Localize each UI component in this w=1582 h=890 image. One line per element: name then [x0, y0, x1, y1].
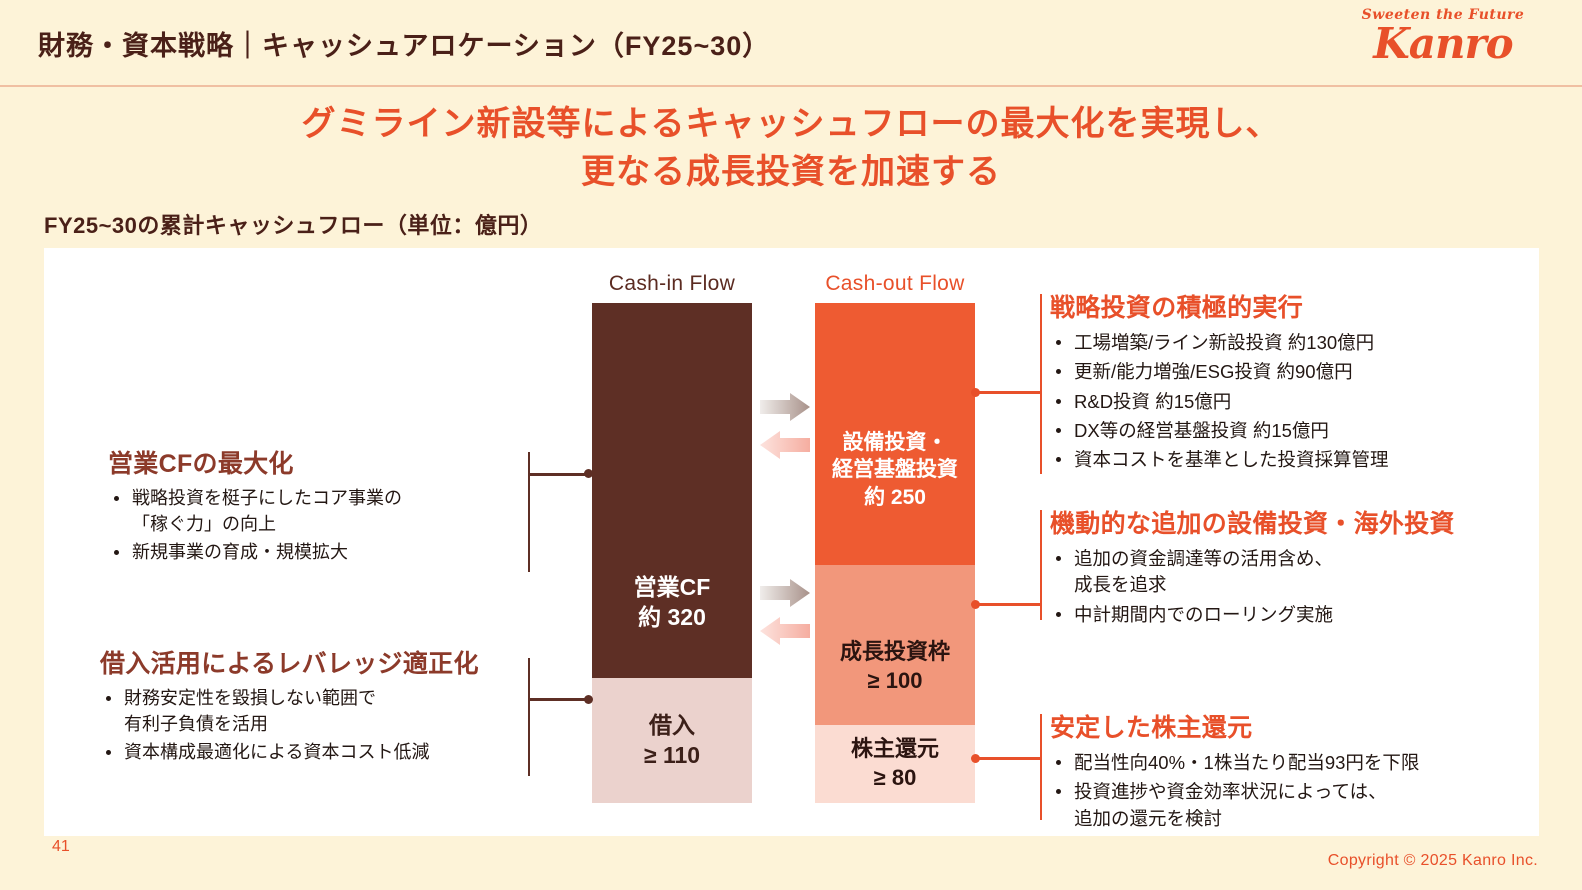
- bar-segment-growth-investment: 成長投資枠 ≥ 100: [815, 565, 975, 725]
- segment-value-borrowing: ≥ 110: [644, 741, 700, 771]
- segment-label-borrowing: 借入: [644, 711, 700, 741]
- arrow-left-icon: [760, 617, 810, 645]
- segment-value-operating-cf: 約 320: [634, 603, 711, 633]
- connector-bracket-capex: [1040, 294, 1042, 474]
- list-item: 追加の資金調達等の活用含め、成長を追求: [1050, 546, 1530, 599]
- connector-dot-growth: [971, 600, 980, 609]
- page-number: 41: [52, 838, 70, 856]
- text-block-shareholder-return: 安定した株主還元 配当性向40%・1株当たり配当93円を下限 投資進捗や資金効率…: [1050, 708, 1530, 835]
- slide-canvas: 財務・資本戦略｜キャッシュアロケーション（FY25~30） Sweeten th…: [0, 0, 1582, 890]
- headline-line-1: グミライン新設等によるキャッシュフローの最大化を実現し、: [0, 100, 1582, 148]
- text-block-operating-cf: 営業CFの最大化 戦略投資を梃子にしたコア事業の「稼ぐ力」の向上 新規事業の育成…: [108, 444, 528, 569]
- list-item: R&D投資 約15億円: [1050, 389, 1520, 415]
- list-item: 財務安定性を毀損しない範囲で有利子負債を活用: [100, 686, 540, 737]
- flow-arrows-upper: [760, 392, 812, 468]
- arrow-right-icon: [760, 393, 810, 421]
- bar-segment-shareholder-return: 株主還元 ≥ 80: [815, 725, 975, 803]
- list-item: 投資進捗や資金効率状況によっては、追加の還元を検討: [1050, 779, 1530, 832]
- connector-stem-return: [975, 757, 1041, 760]
- segment-label-growth-investment: 成長投資枠: [840, 638, 950, 667]
- connector-dot-borrowing: [584, 695, 593, 704]
- bullet-list: 工場増築/ライン新設投資 約130億円 更新/能力増強/ESG投資 約90億円 …: [1050, 330, 1520, 473]
- list-item: 工場増築/ライン新設投資 約130億円: [1050, 330, 1520, 356]
- connector-dot-capex: [971, 388, 980, 397]
- segment-value-shareholder-return: ≥ 80: [851, 764, 939, 793]
- kanro-logo: Sweeten the Future Kanro: [1348, 8, 1538, 66]
- connector-bracket-operating: [528, 452, 530, 572]
- segment-label-operating-cf: 営業CF: [634, 573, 711, 603]
- connector-stem-operating: [528, 473, 592, 476]
- segment-label-shareholder-return: 株主還元: [851, 735, 939, 764]
- arrow-right-icon: [760, 579, 810, 607]
- bullet-list: 配当性向40%・1株当たり配当93円を下限 投資進捗や資金効率状況によっては、追…: [1050, 750, 1530, 832]
- text-block-leverage: 借入活用によるレバレッジ適正化 財務安定性を毀損しない範囲で有利子負債を活用 資…: [100, 644, 540, 769]
- segment-label-capex-1: 設備投資・: [832, 429, 958, 456]
- block-heading: 戦略投資の積極的実行: [1050, 288, 1520, 324]
- block-heading: 安定した株主還元: [1050, 708, 1530, 744]
- flow-arrows-lower: [760, 578, 812, 654]
- headline-line-2: 更なる成長投資を加速する: [0, 148, 1582, 196]
- header-divider: [0, 85, 1582, 87]
- page-title: 財務・資本戦略｜キャッシュアロケーション（FY25~30）: [38, 24, 770, 63]
- connector-dot-return: [971, 754, 980, 763]
- list-item: 更新/能力増強/ESG投資 約90億円: [1050, 359, 1520, 385]
- block-heading: 借入活用によるレバレッジ適正化: [100, 644, 540, 680]
- bullet-list: 戦略投資を梃子にしたコア事業の「稼ぐ力」の向上 新規事業の育成・規模拡大: [108, 486, 528, 566]
- bar-segment-borrowing: 借入 ≥ 110: [592, 678, 752, 803]
- list-item: 戦略投資を梃子にしたコア事業の「稼ぐ力」の向上: [108, 486, 528, 537]
- text-block-strategic-investment: 戦略投資の積極的実行 工場増築/ライン新設投資 約130億円 更新/能力増強/E…: [1050, 288, 1520, 476]
- cash-in-flow-label: Cash-in Flow: [592, 272, 752, 296]
- block-heading: 機動的な追加の設備投資・海外投資: [1050, 504, 1530, 540]
- segment-value-capex: 約 250: [832, 484, 958, 511]
- block-heading: 営業CFの最大化: [108, 444, 528, 480]
- bar-segment-capex: 設備投資・ 経営基盤投資 約 250: [815, 303, 975, 565]
- segment-label-capex-2: 経営基盤投資: [832, 456, 958, 483]
- list-item: 配当性向40%・1株当たり配当93円を下限: [1050, 750, 1530, 776]
- segment-value-growth-investment: ≥ 100: [840, 667, 950, 696]
- bullet-list: 追加の資金調達等の活用含め、成長を追求 中計期間内でのローリング実施: [1050, 546, 1530, 628]
- bullet-list: 財務安定性を毀損しない範囲で有利子負債を活用 資本構成最適化による資本コスト低減: [100, 686, 540, 766]
- copyright-notice: Copyright © 2025 Kanro Inc.: [1328, 852, 1538, 870]
- headline: グミライン新設等によるキャッシュフローの最大化を実現し、 更なる成長投資を加速す…: [0, 100, 1582, 197]
- list-item: 資本構成最適化による資本コスト低減: [100, 740, 540, 766]
- list-item: 新規事業の育成・規模拡大: [108, 540, 528, 566]
- arrow-left-icon: [760, 431, 810, 459]
- connector-bracket-return: [1040, 714, 1042, 820]
- text-block-additional-investment: 機動的な追加の設備投資・海外投資 追加の資金調達等の活用含め、成長を追求 中計期…: [1050, 504, 1530, 631]
- list-item: 中計期間内でのローリング実施: [1050, 602, 1530, 628]
- chart-subtitle: FY25~30の累計キャッシュフロー（単位：億円）: [44, 208, 542, 240]
- list-item: 資本コストを基準とした投資採算管理: [1050, 447, 1520, 473]
- slide-header: 財務・資本戦略｜キャッシュアロケーション（FY25~30） Sweeten th…: [0, 0, 1582, 85]
- bar-segment-operating-cf: 営業CF 約 320: [592, 303, 752, 678]
- connector-stem-capex: [975, 391, 1041, 394]
- list-item: DX等の経営基盤投資 約15億円: [1050, 418, 1520, 444]
- cash-out-flow-label: Cash-out Flow: [815, 272, 975, 296]
- connector-dot-operating: [584, 469, 593, 478]
- logo-wordmark: Kanro: [1348, 22, 1538, 66]
- connector-stem-growth: [975, 603, 1041, 606]
